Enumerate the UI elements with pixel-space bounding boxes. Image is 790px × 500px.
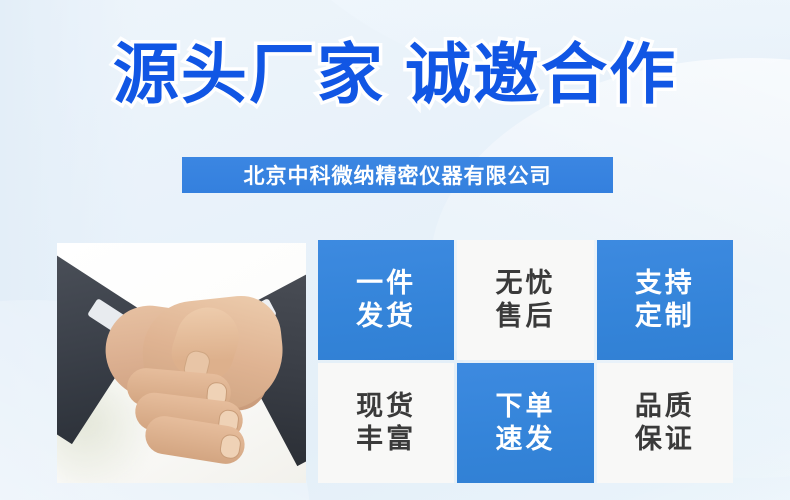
feature-tile-3[interactable]: 支持 定制 [597,240,733,360]
feature-tile-6-line1: 品质 [635,390,695,423]
feature-tile-3-line1: 支持 [635,267,695,300]
finger-nail-3 [219,433,243,460]
feature-tile-5-line1: 下单 [495,390,555,423]
handshake-photo [57,243,306,483]
feature-tile-6-line2: 保证 [635,423,695,456]
company-name-label: 北京中科微纳精密仪器有限公司 [244,160,552,190]
feature-tile-2-line2: 售后 [495,300,555,333]
feature-tile-2[interactable]: 无忧 售后 [457,240,593,360]
promo-banner: 源头厂家 诚邀合作 北京中科微纳精密仪器有限公司 一件 发货 无忧 售后 [0,0,790,500]
feature-tile-4-line1: 现货 [356,390,416,423]
company-name-bar: 北京中科微纳精密仪器有限公司 [182,157,613,193]
feature-tile-1-line2: 发货 [356,300,416,333]
feature-tile-3-line2: 定制 [635,300,695,333]
feature-tile-4[interactable]: 现货 丰富 [318,363,454,483]
feature-tile-5-line2: 速发 [495,423,555,456]
feature-tile-grid: 一件 发货 无忧 售后 支持 定制 现货 丰富 下单 速发 品质 保证 [318,240,733,483]
headline-text: 源头厂家 诚邀合作 [0,36,790,112]
feature-tile-4-line2: 丰富 [356,423,416,456]
fingers-group [119,371,269,463]
feature-tile-2-line1: 无忧 [495,267,555,300]
feature-tile-6[interactable]: 品质 保证 [597,363,733,483]
feature-tile-5[interactable]: 下单 速发 [457,363,593,483]
feature-tile-1-line1: 一件 [356,267,416,300]
feature-tile-1[interactable]: 一件 发货 [318,240,454,360]
